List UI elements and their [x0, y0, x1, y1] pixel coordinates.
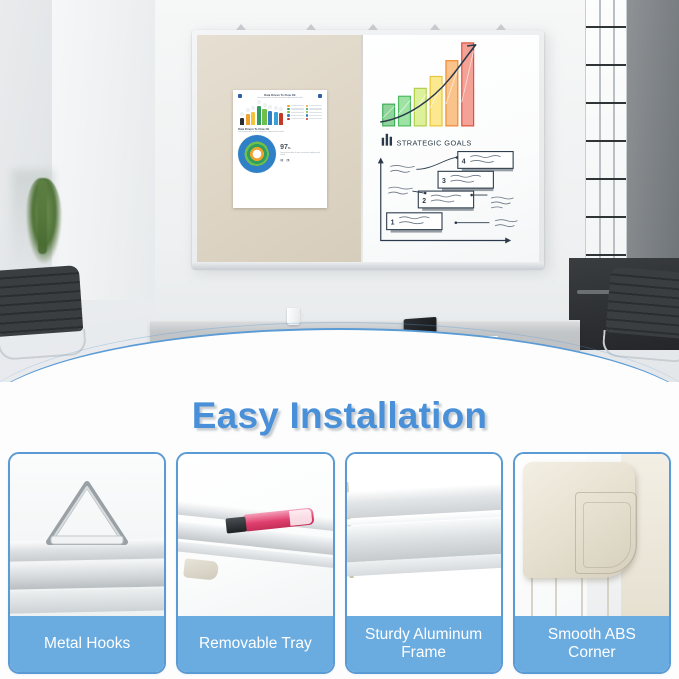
legend-row: [287, 108, 303, 110]
legend-label: [309, 108, 322, 109]
board-edge: [529, 574, 633, 620]
legend-dot: [287, 108, 289, 110]
legend-label: [291, 118, 304, 119]
legend-row: [287, 114, 303, 116]
legend-label: [309, 118, 322, 119]
poster-percent-caption: Lorem ipsum dolor sit amet consectetur a…: [280, 152, 322, 157]
hanging-hook-icon: [236, 24, 246, 30]
legend-dot: [306, 118, 308, 120]
panel-caption: Smooth ABS Corner: [515, 616, 669, 672]
panel-caption: Sturdy Aluminum Frame: [347, 616, 501, 672]
legend-row: [306, 118, 322, 120]
poster-logo-right: [318, 94, 322, 98]
poster-bar: [240, 118, 244, 124]
window: [585, 0, 627, 296]
legend-dot: [287, 105, 289, 107]
legend-dot: [287, 118, 289, 120]
legend-dot: [306, 111, 308, 113]
poster-bar: [257, 106, 261, 125]
legend-row: [306, 108, 322, 110]
feature-panel-row: Metal Hooks Removable Tray Sturdy Alumin…: [8, 452, 671, 674]
poster-bar: [268, 111, 272, 125]
poster-chart-legend: [287, 105, 321, 125]
whiteboard: Data Driven To Flow Oil Lorem ipsum dolo…: [192, 30, 544, 268]
panel-caption-line1: Smooth ABS: [548, 626, 636, 643]
pinned-poster: Data Driven To Flow Oil Lorem ipsum dolo…: [233, 90, 327, 209]
legend-dot: [287, 114, 289, 116]
legend-row: [306, 111, 322, 113]
hanging-hook-icon: [306, 24, 316, 30]
poster-subtitle: Lorem ipsum dolor sit amet consectetur a…: [238, 97, 322, 99]
legend-label: [309, 112, 322, 113]
poster-section2-subtitle: Lorem ipsum dolor sit amet consectetur a…: [238, 131, 322, 133]
legend-row: [306, 105, 322, 107]
poster-kpi: 32Total: [280, 159, 283, 163]
legend-row: [306, 114, 322, 116]
legend-row: [287, 111, 303, 113]
panel-caption-line2: Frame: [401, 644, 446, 661]
poster-bar: [262, 109, 266, 125]
headline-container: Easy Installation: [0, 388, 679, 444]
potted-plant: [26, 178, 62, 264]
poster-kpi-label: Total: [280, 162, 283, 163]
legend-dot: [306, 108, 308, 110]
feature-panel-removable-tray[interactable]: Removable Tray: [176, 452, 334, 674]
svg-text:2: 2: [422, 198, 426, 205]
panel-caption-line2: Corner: [568, 644, 615, 661]
office-chair-right: [603, 266, 679, 365]
panel-caption-line1: Sturdy Aluminum: [365, 626, 482, 643]
aluminum-frame-closeup-photo: [347, 454, 501, 620]
legend-label: [309, 115, 322, 116]
poster-bar: [246, 114, 250, 125]
abs-plastic-corner-cap: [523, 462, 635, 578]
whiteboard-writing-surface: STRATEGIC GOALS: [361, 35, 539, 263]
abs-corner-closeup-photo: [515, 454, 669, 620]
product-feature-image: Data Driven To Flow Oil Lorem ipsum dolo…: [0, 0, 679, 679]
poster-kpi: 78Rate: [286, 159, 289, 163]
poster-bar: [251, 112, 255, 125]
legend-row: [287, 118, 303, 120]
poster-percent-value: 97%: [280, 144, 322, 151]
feature-panel-aluminum-frame[interactable]: Sturdy Aluminum Frame: [345, 452, 503, 674]
legend-dot: [306, 114, 308, 116]
hanging-hook-icon: [368, 24, 378, 30]
poster-donut-chart: [238, 135, 276, 173]
whiteboard-center-divider: [361, 35, 363, 263]
hero-office-scene: Data Driven To Flow Oil Lorem ipsum dolo…: [0, 0, 679, 382]
cork-bulletin-surface: Data Driven To Flow Oil Lorem ipsum dolo…: [197, 35, 361, 263]
legend-label: [291, 115, 304, 116]
wall-right-dark: [627, 0, 679, 300]
poster-logo-left: [238, 94, 242, 98]
poster-bar: [279, 113, 283, 125]
poster-bar-chart: [240, 103, 283, 125]
feature-panel-metal-hooks[interactable]: Metal Hooks: [8, 452, 166, 674]
poster-bar: [274, 112, 278, 125]
page-title: Easy Installation: [192, 395, 487, 437]
legend-dot: [306, 105, 308, 107]
svg-text:3: 3: [442, 178, 446, 185]
svg-text:4: 4: [462, 158, 466, 165]
legend-row: [287, 105, 303, 107]
legend-dot: [287, 111, 289, 113]
removable-pen-tray-photo: [178, 454, 332, 620]
strategic-goals-label: STRATEGIC GOALS: [397, 139, 472, 148]
wall-column: [52, 0, 160, 300]
whiteboard-pen-tray: [192, 262, 544, 270]
office-chair-left: [0, 265, 85, 363]
poster-kpi-row: 32Total78Rate: [280, 159, 322, 163]
poster-kpi-label: Rate: [286, 162, 289, 163]
svg-text:1: 1: [391, 220, 395, 227]
metal-hook-closeup-photo: [10, 454, 164, 620]
panel-caption: Removable Tray: [178, 616, 332, 672]
hand-drawn-diagram: STRATEGIC GOALS: [361, 35, 539, 260]
triangular-wire-hook-icon: [37, 478, 137, 554]
legend-label: [291, 108, 304, 109]
legend-label: [291, 112, 304, 113]
hanging-hook-icon: [430, 24, 440, 30]
feature-panel-abs-corner[interactable]: Smooth ABS Corner: [513, 452, 671, 674]
tray-end-cap: [183, 558, 219, 580]
hanging-hook-icon: [496, 24, 506, 30]
legend-label: [291, 105, 304, 106]
panel-caption: Metal Hooks: [10, 616, 164, 672]
legend-label: [309, 105, 322, 106]
